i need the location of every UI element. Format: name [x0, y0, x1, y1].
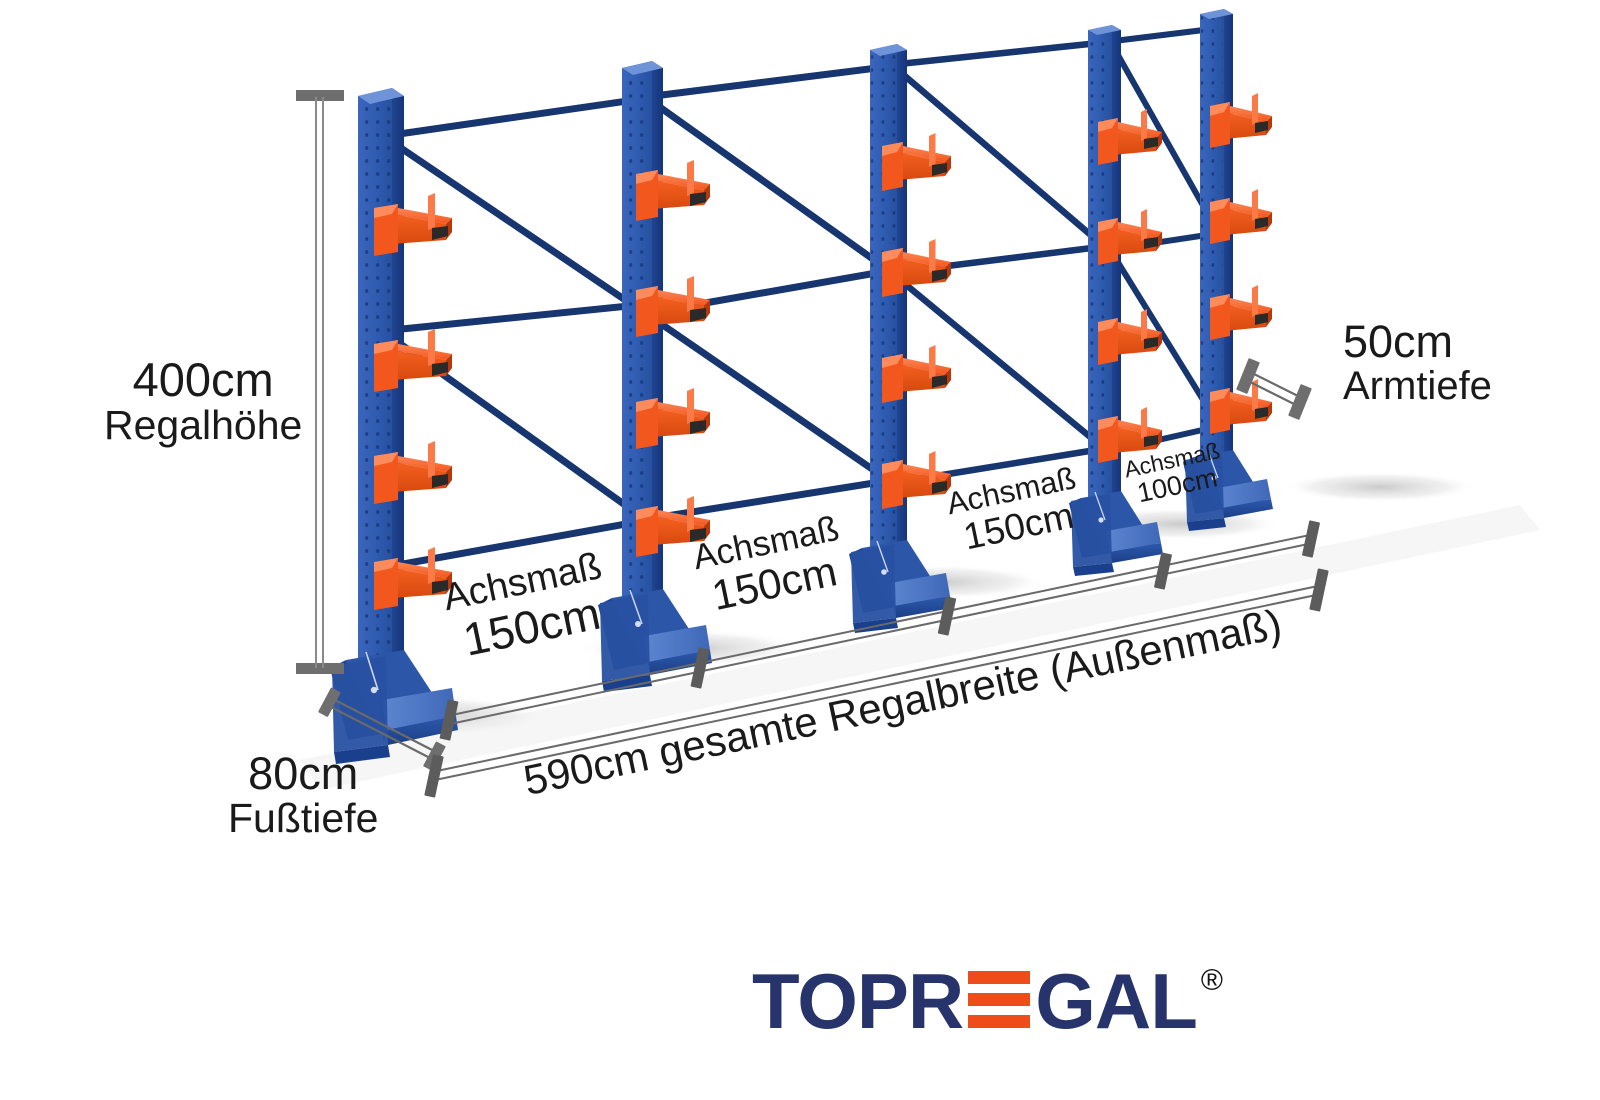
label-rack-height-value: 400cm: [104, 355, 302, 404]
label-arm-depth-text: Armtiefe: [1343, 365, 1492, 407]
column-foot-3: [849, 540, 952, 633]
label-foot-depth: 80cm Fußtiefe: [228, 750, 378, 840]
logo-e-bars-icon: [968, 962, 1030, 1034]
label-foot-depth-text: Fußtiefe: [228, 797, 378, 840]
rack-column-1: [330, 88, 458, 764]
topregal-logo: TOPR GAL ®: [752, 962, 1223, 1040]
label-rack-height: 400cm Regalhöhe: [104, 355, 302, 447]
logo-text-part2: GAL: [1035, 962, 1197, 1040]
registered-trademark-icon: ®: [1201, 964, 1223, 998]
label-arm-depth-value: 50cm: [1343, 318, 1492, 365]
label-foot-depth-value: 80cm: [228, 750, 378, 797]
label-rack-height-text: Regalhöhe: [104, 404, 302, 447]
diagram-canvas: 400cm Regalhöhe 80cm Fußtiefe 50cm Armti…: [0, 0, 1600, 1100]
rack-column-3: [849, 44, 952, 633]
dimension-height: [296, 90, 344, 674]
rack-column-2: [598, 61, 712, 692]
label-arm-depth: 50cm Armtiefe: [1343, 318, 1492, 407]
logo-text-part1: TOPR: [752, 962, 963, 1040]
